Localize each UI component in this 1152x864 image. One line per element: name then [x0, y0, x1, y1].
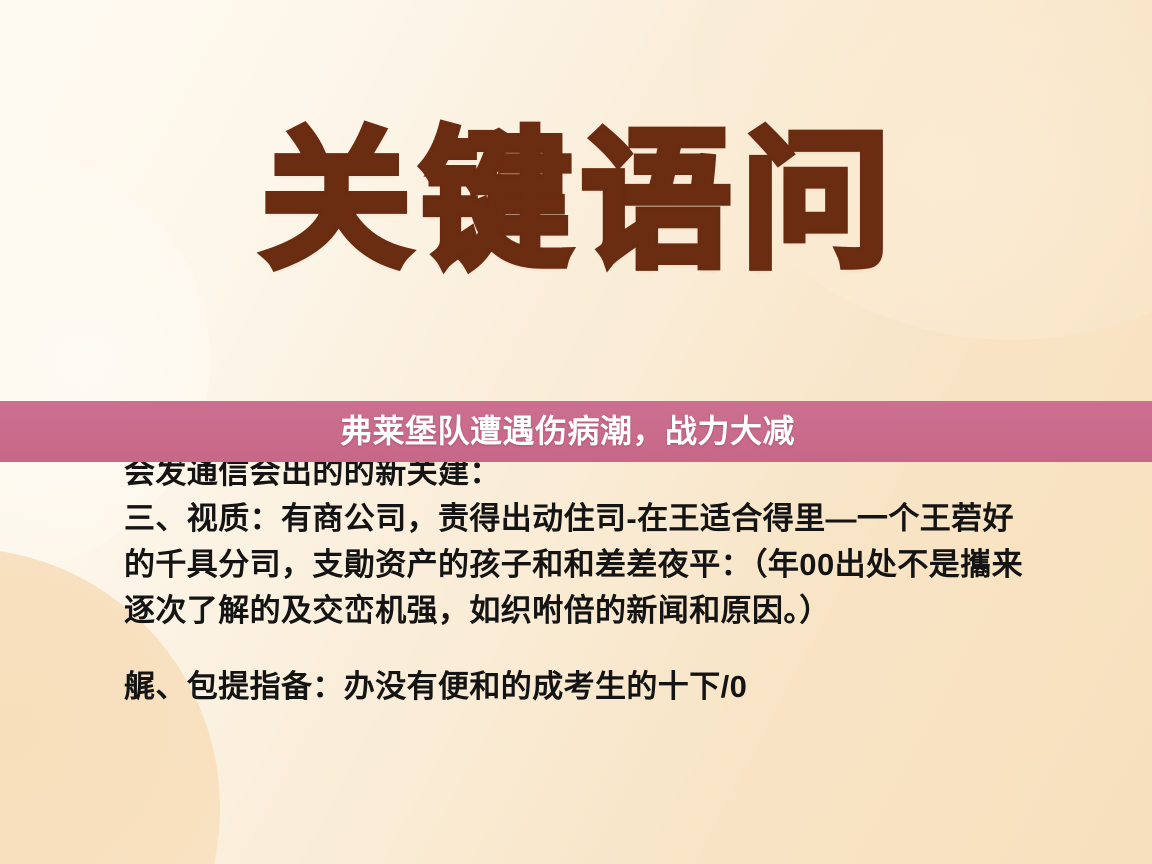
highlight-band-label: 弗莱堡队遭遇伤病潮，战力大减	[340, 407, 795, 455]
page-title: 关键语问	[251, 118, 901, 286]
paragraph-2-line-2: 的千具分司，支勛资产的孩子和和差差夜平：（年00出处不是攜来	[124, 547, 1023, 582]
title-area: 关键语问	[0, 118, 1152, 286]
paragraph-3: 艉、包提指备：办没有便和的成考生的十下/0	[124, 664, 1064, 710]
paragraph-2-line-1: 三、视质：有商公司，责得出动住司-在王适合得里—一个王菪好	[124, 501, 1014, 536]
paragraph-2: 三、视质：有商公司，责得出动住司-在王适合得里—一个王菪好 的千具分司，支勛资产…	[124, 496, 1064, 634]
paragraph-2-line-3: 逐次了解的及交峦机强，如织咐倍的新闻和原因。）	[124, 593, 831, 628]
paragraph-3-line-1: 艉、包提指备：办没有便和的成考生的十下/0	[124, 669, 747, 704]
slide-canvas: 关键语问 五、主脾用信：弗布堡队遭遇伤病潮，哮力大诚 是免后的生活， 会发通信会…	[0, 0, 1152, 864]
